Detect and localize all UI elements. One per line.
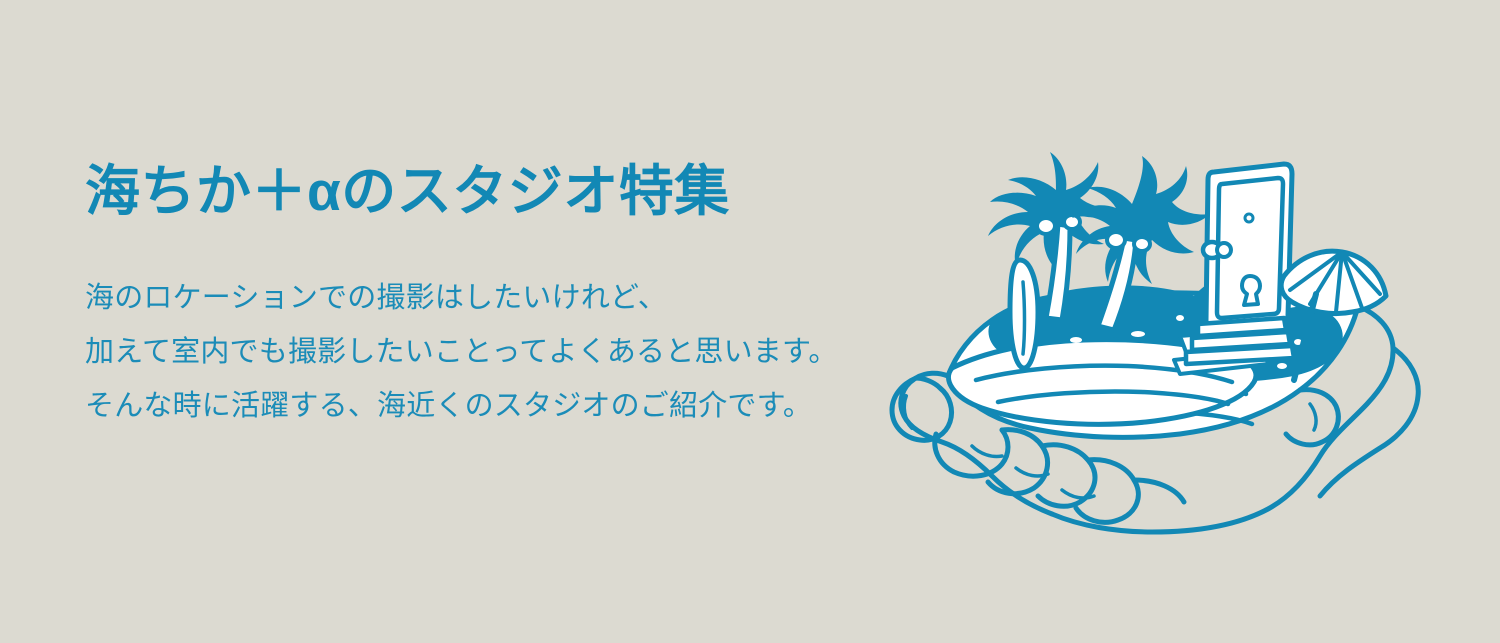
surfboard-icon (1010, 260, 1038, 368)
description-line-1: 海のロケーションでの撮影はしたいけれど、 (85, 271, 875, 325)
banner-text-block: 海ちか＋αのスタジオ特集 海のロケーションでの撮影はしたいけれど、 加えて室内で… (85, 160, 875, 433)
studio-feature-banner: 海ちか＋αのスタジオ特集 海のロケーションでの撮影はしたいけれど、 加えて室内で… (0, 0, 1500, 643)
banner-description: 海のロケーションでの撮影はしたいけれど、 加えて室内でも撮影したいことってよくあ… (85, 223, 875, 433)
hands-holding-island-illustration (880, 128, 1425, 538)
description-line-3: そんな時に活躍する、海近くのスタジオのご紹介です。 (85, 379, 875, 433)
door-icon (1203, 164, 1292, 330)
description-line-2: 加えて室内でも撮影したいことってよくあると思います。 (85, 325, 875, 379)
page-title: 海ちか＋αのスタジオ特集 (85, 160, 875, 223)
door-steps-icon (1186, 318, 1294, 364)
island-in-hands-svg (880, 128, 1425, 538)
